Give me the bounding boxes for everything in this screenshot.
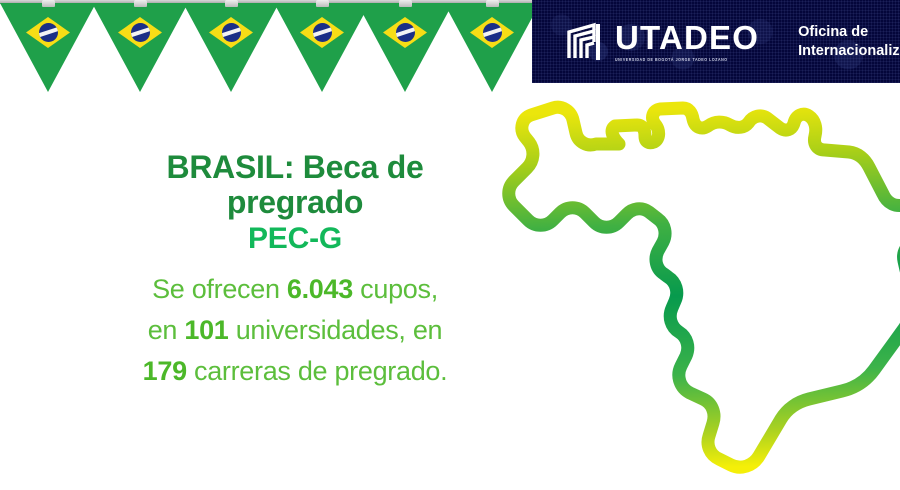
brazil-pennant-4 — [274, 0, 370, 92]
pennant-globe-band — [483, 26, 502, 38]
headline-line-1: BRASIL: Beca de — [60, 150, 530, 185]
brazil-pennant-6 — [444, 0, 540, 92]
pennant-blue-globe — [131, 23, 150, 42]
pennant-blue-globe — [39, 23, 58, 42]
bunting-clasp — [486, 0, 499, 7]
pennant-globe-band — [222, 26, 241, 38]
body-line-3-post: carreras de pregrado. — [187, 356, 448, 386]
bunting-clasp — [134, 0, 147, 7]
utadeo-wordmark: UTADEO — [615, 22, 759, 53]
program-code: PEC-G — [60, 221, 530, 257]
page-title: BRASIL: Beca de pregrado — [60, 150, 530, 219]
brazil-pennant-1 — [0, 0, 96, 92]
body-line-1-pre: Se ofrecen — [152, 274, 287, 304]
stat-cupos: 6.043 — [287, 274, 353, 304]
body-line-3: 179 carreras de pregrado. — [60, 351, 530, 392]
pennant-globe-band — [313, 26, 332, 38]
stat-carreras: 179 — [143, 356, 187, 386]
bunting-clasp — [42, 0, 55, 7]
utadeo-logo-panel: UTADEO UNIVERSIDAD DE BOGOTÁ JORGE TADEO… — [532, 0, 900, 83]
body-line-2-pre: en — [148, 315, 185, 345]
bunting-clasp — [225, 0, 238, 7]
utadeo-logo-lockup: UTADEO UNIVERSIDAD DE BOGOTÁ JORGE TADEO… — [565, 21, 759, 63]
pennant-globe-band — [396, 26, 415, 38]
body-line-2-post: universidades, en — [229, 315, 443, 345]
announcement-copy: BRASIL: Beca de pregrado PEC-G Se ofrece… — [60, 150, 530, 392]
pennant-globe-band — [39, 26, 58, 38]
pennant-blue-globe — [222, 23, 241, 42]
body-line-1-post: cupos, — [353, 274, 438, 304]
utadeo-sub-wordmark: UNIVERSIDAD DE BOGOTÁ JORGE TADEO LOZANO — [615, 57, 759, 62]
stat-universidades: 101 — [184, 315, 228, 345]
brazil-pennant-5 — [357, 0, 453, 92]
brazil-map-outline — [497, 86, 900, 486]
pennant-blue-globe — [483, 23, 502, 42]
body-line-2: en 101 universidades, en — [60, 310, 530, 351]
brazil-country-path — [509, 107, 900, 467]
brazil-flag-pennant-bunting — [0, 0, 540, 96]
headline-line-2: pregrado — [60, 185, 530, 220]
pennant-blue-globe — [313, 23, 332, 42]
body-copy: Se ofrecen 6.043 cupos, en 101 universid… — [60, 269, 530, 392]
body-line-1: Se ofrecen 6.043 cupos, — [60, 269, 530, 310]
pennant-blue-globe — [396, 23, 415, 42]
office-label-line-1: Oficina de — [798, 23, 900, 41]
office-label-line-2: Internacionalización — [798, 42, 900, 60]
campaign-banner: UTADEO UNIVERSIDAD DE BOGOTÁ JORGE TADEO… — [0, 0, 900, 490]
office-label: Oficina de Internacionalización — [798, 23, 900, 59]
utadeo-book-mark-icon — [565, 21, 609, 63]
bunting-clasp — [399, 0, 412, 7]
bunting-clasp — [316, 0, 329, 7]
pennant-globe-band — [131, 26, 150, 38]
brazil-pennant-2 — [92, 0, 188, 92]
brazil-pennant-3 — [183, 0, 279, 92]
